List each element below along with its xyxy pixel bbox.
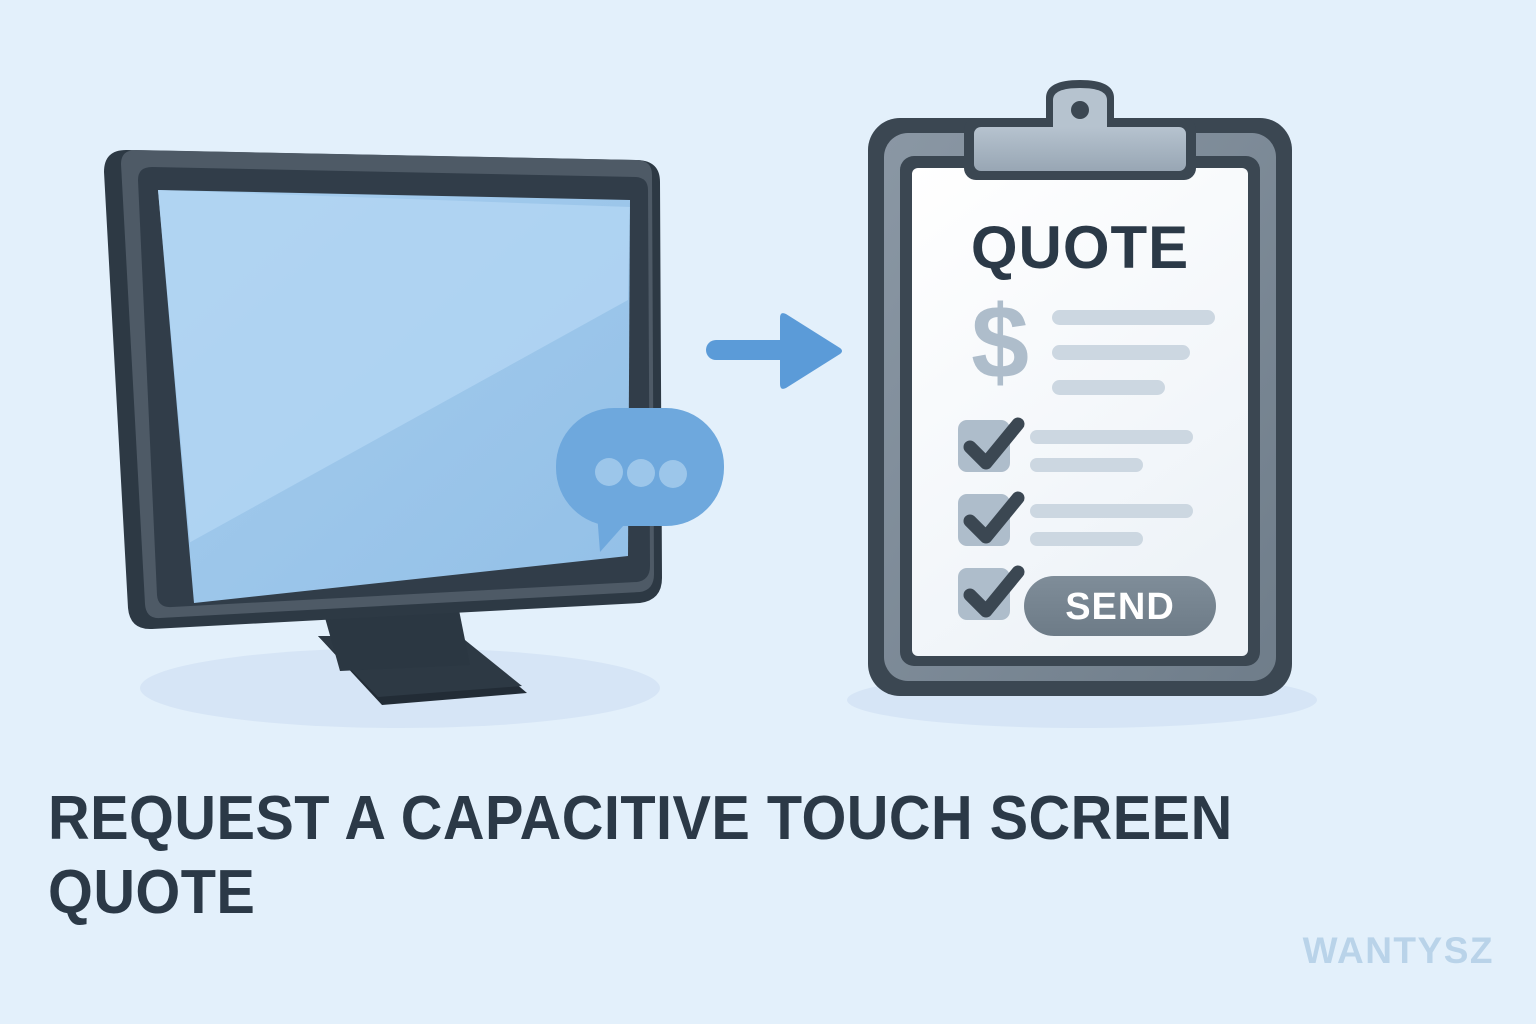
illustration-canvas: QUOTE $	[0, 0, 1536, 1024]
chat-bubble-dot-2	[627, 459, 655, 487]
price-line-1	[1052, 310, 1215, 325]
checklist-item-3[interactable]	[958, 568, 1018, 620]
clipboard-clip	[964, 80, 1196, 180]
arrow-head	[780, 313, 842, 389]
chat-bubble-dot-1	[595, 458, 623, 486]
clipboard-title: QUOTE	[971, 214, 1189, 281]
watermark: WANTYSZ	[1303, 930, 1494, 972]
chat-bubble-dot-3	[659, 460, 687, 488]
clip-plate	[974, 127, 1186, 171]
clip-hole-icon	[1071, 101, 1089, 119]
send-button[interactable]: SEND	[1024, 576, 1216, 636]
arrow-right-icon	[706, 313, 842, 389]
checklist-2-line-2	[1030, 532, 1143, 546]
checklist-1-line-1	[1030, 430, 1193, 444]
clipboard: QUOTE $	[868, 80, 1292, 696]
checklist-2-line-1	[1030, 504, 1193, 518]
checklist-1-line-2	[1030, 458, 1143, 472]
page-title: REQUEST A CAPACITIVE TOUCH SCREEN QUOTE	[48, 782, 1257, 930]
currency-symbol: $	[971, 285, 1029, 401]
price-line-2	[1052, 345, 1190, 360]
price-line-3	[1052, 380, 1165, 395]
send-button-label: SEND	[1065, 586, 1175, 628]
